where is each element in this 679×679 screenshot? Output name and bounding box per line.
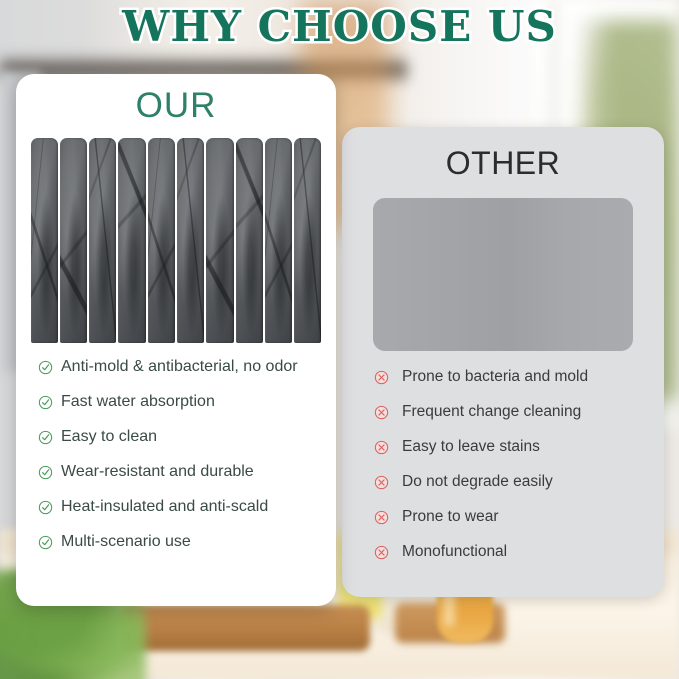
mat-slat (89, 138, 116, 343)
other-card-heading: OTHER (342, 145, 664, 182)
check-circle-icon (38, 500, 53, 515)
mat-slat (148, 138, 175, 343)
list-item-label: Easy to clean (61, 428, 157, 446)
mat-slat (206, 138, 233, 343)
list-item-label: Heat-insulated and anti-scald (61, 498, 268, 516)
check-circle-icon (38, 395, 53, 410)
infographic-canvas: WHY CHOOSE US OTHER Prone to bacteria an… (0, 0, 679, 679)
check-circle-icon (38, 465, 53, 480)
check-circle-icon (38, 535, 53, 550)
our-comparison-card: OUR Anti-mold & antibacterial, n (16, 74, 336, 606)
list-item-label: Multi-scenario use (61, 533, 191, 551)
cross-circle-icon (374, 510, 389, 525)
list-item: Anti-mold & antibacterial, no odor (38, 358, 336, 376)
page-title: WHY CHOOSE US (0, 2, 679, 51)
list-item-label: Prone to wear (402, 508, 499, 526)
list-item-label: Monofunctional (402, 543, 507, 561)
list-item: Frequent change cleaning (374, 403, 664, 421)
other-comparison-card: OTHER Prone to bacteria and mold (342, 127, 664, 597)
list-item-label: Do not degrade easily (402, 473, 553, 491)
mat-slat (118, 138, 145, 343)
list-item-label: Anti-mold & antibacterial, no odor (61, 358, 298, 376)
list-item: Fast water absorption (38, 393, 336, 411)
our-product-image-slate-bath-mat (31, 138, 322, 343)
cross-circle-icon (374, 545, 389, 560)
list-item: Heat-insulated and anti-scald (38, 498, 336, 516)
mat-slat (177, 138, 204, 343)
list-item: Easy to leave stains (374, 438, 664, 456)
our-card-heading: OUR (16, 86, 336, 126)
list-item-label: Wear-resistant and durable (61, 463, 254, 481)
background-cutting-board (120, 605, 370, 651)
cross-circle-icon (374, 440, 389, 455)
mat-slat (31, 138, 58, 343)
list-item-label: Prone to bacteria and mold (402, 368, 588, 386)
cross-circle-icon (374, 370, 389, 385)
other-drawback-list: Prone to bacteria and mold Frequent chan… (342, 368, 664, 561)
list-item: Multi-scenario use (38, 533, 336, 551)
our-feature-list: Anti-mold & antibacterial, no odor Fast … (16, 358, 336, 551)
list-item-label: Fast water absorption (61, 393, 215, 411)
other-product-placeholder-image (373, 198, 633, 351)
mat-slat (265, 138, 292, 343)
mat-slat (294, 138, 321, 343)
list-item: Prone to wear (374, 508, 664, 526)
cross-circle-icon (374, 475, 389, 490)
cross-circle-icon (374, 405, 389, 420)
mat-slat (236, 138, 263, 343)
list-item: Easy to clean (38, 428, 336, 446)
mat-slat (60, 138, 87, 343)
list-item: Do not degrade easily (374, 473, 664, 491)
list-item-label: Easy to leave stains (402, 438, 540, 456)
list-item: Wear-resistant and durable (38, 463, 336, 481)
check-circle-icon (38, 360, 53, 375)
check-circle-icon (38, 430, 53, 445)
list-item: Monofunctional (374, 543, 664, 561)
list-item: Prone to bacteria and mold (374, 368, 664, 386)
list-item-label: Frequent change cleaning (402, 403, 581, 421)
